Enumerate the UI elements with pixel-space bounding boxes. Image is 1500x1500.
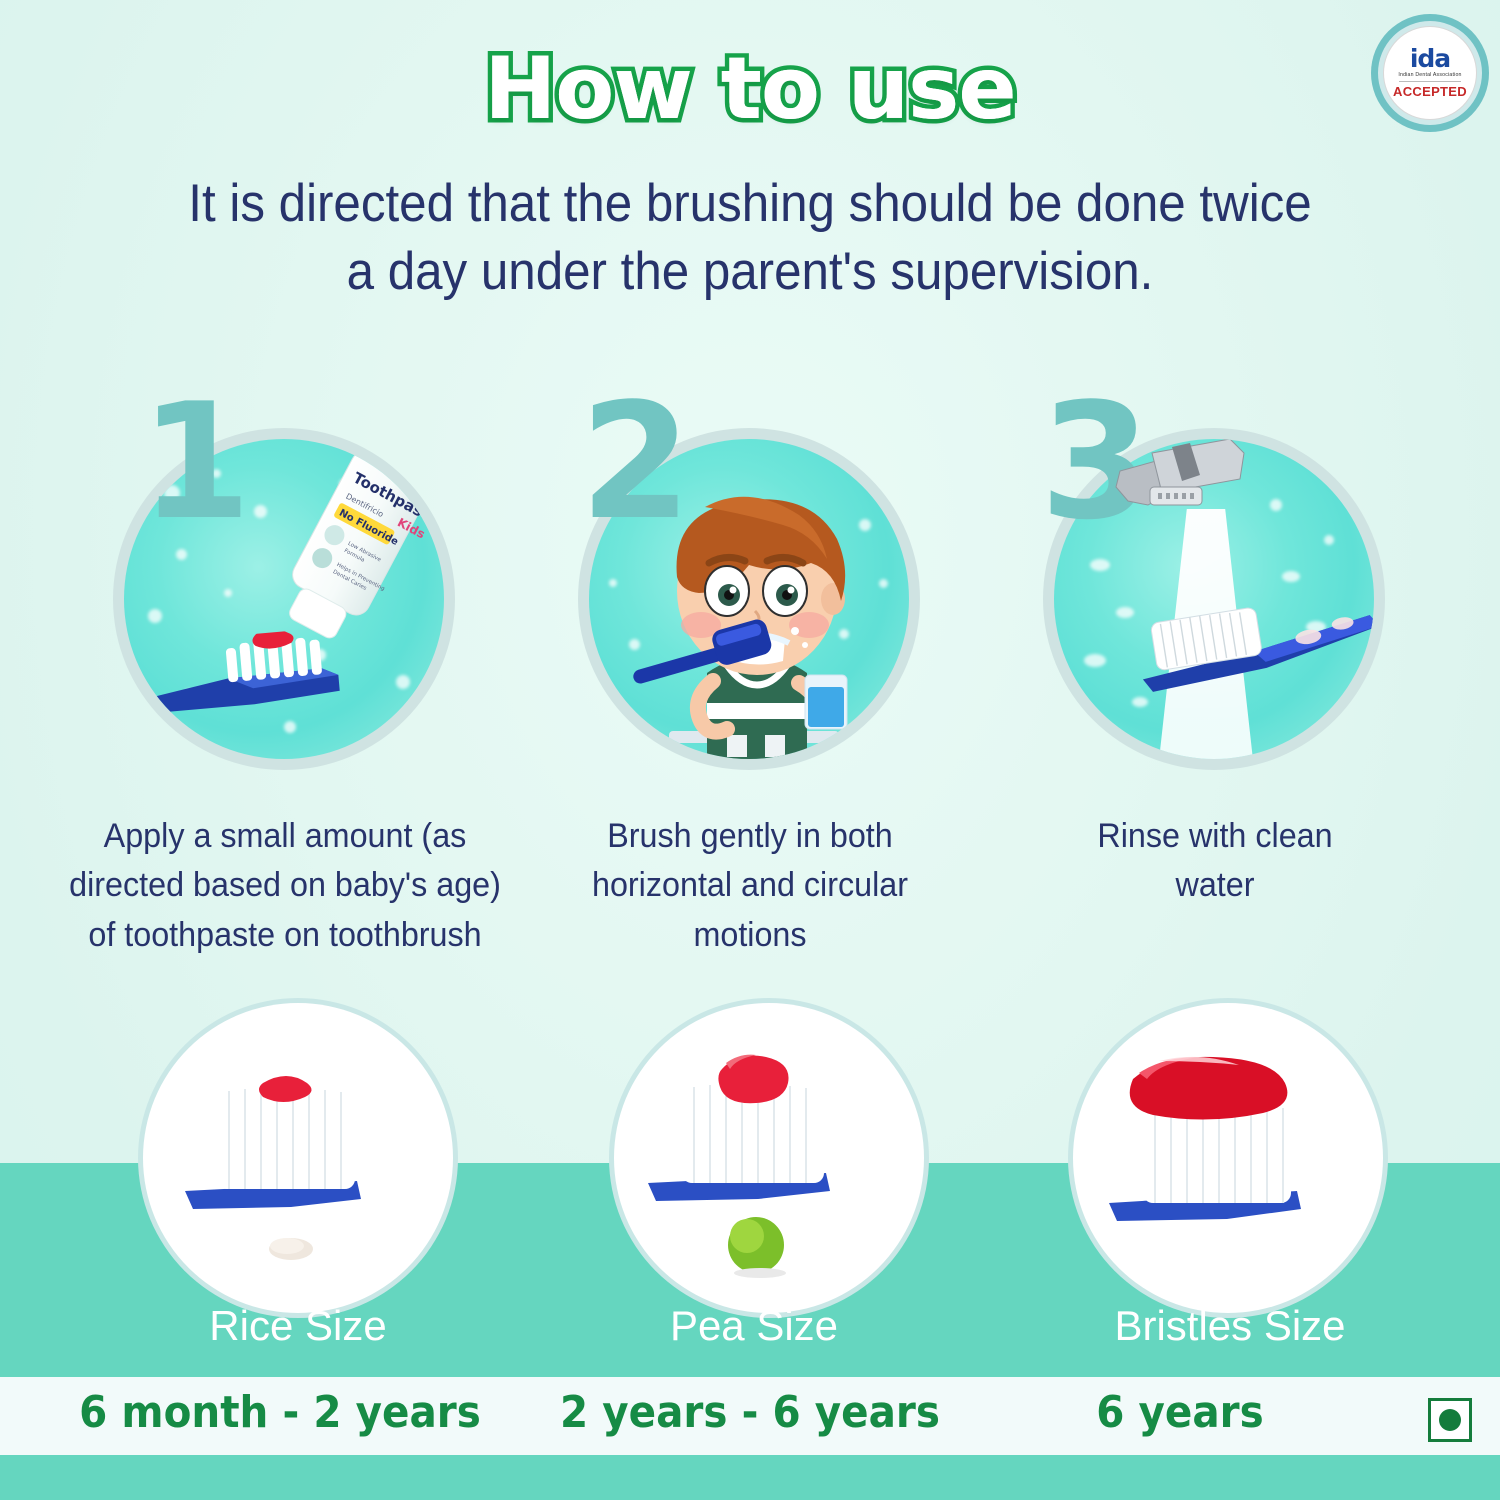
step-2-caption-line-1: Brush gently in both [607, 817, 893, 855]
step-1-illustration: 1 [55, 390, 515, 790]
step-2-caption-line-2: horizontal and circular [592, 866, 908, 904]
step-3-caption: Rinse with clean water [997, 812, 1434, 911]
step-1-caption: Apply a small amount (as directed based … [52, 812, 518, 960]
step-2-illustration: 2 [520, 390, 980, 790]
size-circle-pea [614, 1003, 924, 1313]
ida-divider [1399, 81, 1461, 82]
size-circle-bristles [1073, 1003, 1383, 1313]
page-subtitle: It is directed that the brushing should … [155, 170, 1345, 306]
age-range-pea: 2 years - 6 years [538, 1387, 961, 1438]
ida-badge-inner: ida Indian Dental Association ACCEPTED [1384, 27, 1476, 119]
age-range-bristles: 6 years [996, 1387, 1364, 1438]
bristles-size-illustration [1073, 1003, 1383, 1313]
poster-root: How to use How to use ida Indian Dental … [0, 0, 1500, 1500]
ida-logo: ida [1410, 47, 1450, 71]
step-3: 3 [985, 390, 1445, 790]
bottom-strip [0, 1455, 1500, 1500]
size-label-rice: Rice Size [128, 1302, 468, 1350]
step-3-illustration: 3 [985, 390, 1445, 790]
size-label-bristles: Bristles Size [1060, 1302, 1400, 1350]
size-circle-rice [143, 1003, 453, 1313]
rice-size-illustration [143, 1003, 453, 1313]
step-3-caption-line-1: Rinse with clean [1097, 817, 1332, 855]
faucet-icon [1112, 439, 1262, 527]
size-label-pea: Pea Size [584, 1302, 924, 1350]
ida-accepted-text: ACCEPTED [1393, 84, 1467, 99]
step-2-caption: Brush gently in both horizontal and circ… [532, 812, 969, 960]
age-range-rice: 6 month - 2 years [59, 1387, 501, 1438]
step-1: 1 [55, 390, 515, 790]
pea-size-illustration [614, 1003, 924, 1313]
step-2-caption-line-3: motions [693, 916, 806, 954]
step-3-caption-line-2: water [1176, 866, 1255, 904]
step-1-number: 1 [140, 382, 251, 542]
vegetarian-mark-icon [1428, 1398, 1472, 1442]
step-1-caption-line-3: of toothpaste on toothbrush [88, 916, 481, 954]
page-title: How to use [0, 46, 1500, 132]
ida-accepted-badge: ida Indian Dental Association ACCEPTED [1371, 14, 1489, 132]
step-1-caption-line-2: directed based on baby's age) [69, 866, 501, 904]
subtitle-line-1: It is directed that the brushing should … [188, 174, 1311, 233]
step-2: 2 [520, 390, 980, 790]
step-1-caption-line-1: Apply a small amount (as [104, 817, 467, 855]
step-2-number: 2 [580, 382, 691, 542]
subtitle-line-2: a day under the parent's supervision. [347, 242, 1154, 301]
